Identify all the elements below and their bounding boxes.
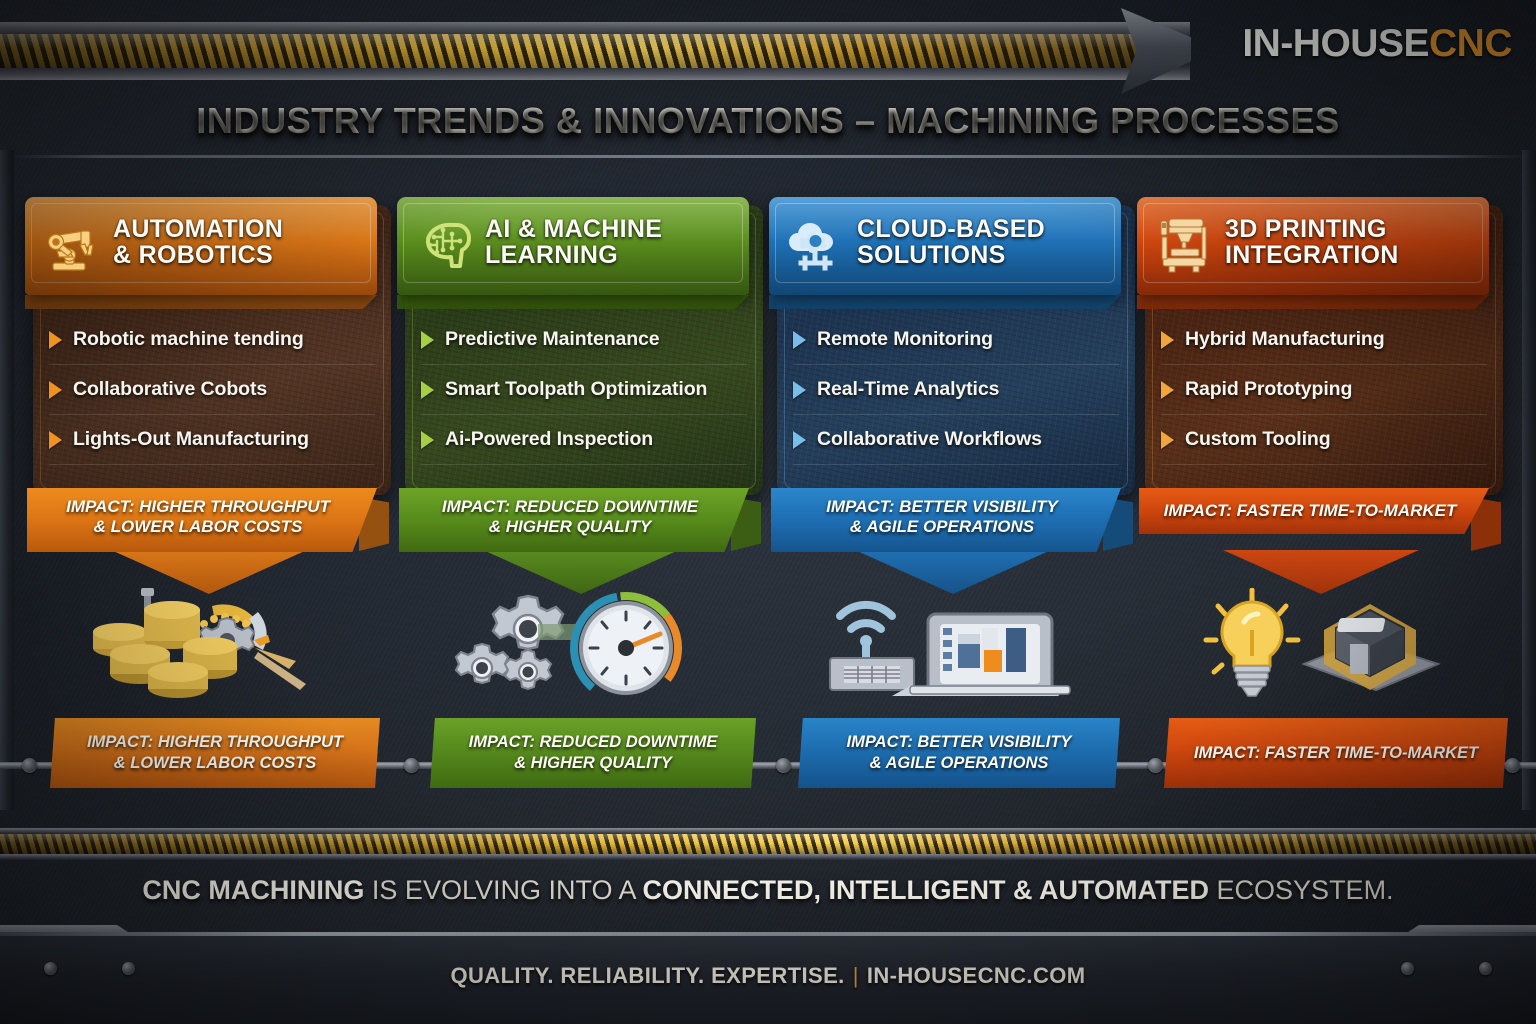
- list-item-label: Remote Monitoring: [817, 328, 993, 351]
- impact-line1: IMPACT: BETTER VISIBILITY: [826, 497, 1058, 516]
- column-3d-printing-integration: 3D PRINTING INTEGRATION Hybrid Manufactu…: [1145, 205, 1503, 565]
- card-title-line2: & ROBOTICS: [113, 241, 273, 269]
- coins-gear-screwdriver-icon: [62, 588, 362, 700]
- list-item-label: Smart Toolpath Optimization: [445, 378, 707, 401]
- card-title-line2: LEARNING: [485, 241, 618, 269]
- footer-rail-bottom: [0, 854, 1536, 860]
- list-item-label: Lights-Out Manufacturing: [73, 428, 309, 451]
- bullet-list: Hybrid Manufacturing Rapid Prototyping C…: [1161, 315, 1487, 465]
- column-cloud-based-solutions: CLOUD-BASED SOLUTIONS Remote Monitoring …: [777, 205, 1135, 565]
- bottom-banner-ai-machine-learning: IMPACT: REDUCED DOWNTIME & HIGHER QUALIT…: [430, 718, 756, 788]
- impact-line1: IMPACT: REDUCED DOWNTIME: [442, 497, 698, 516]
- card-title: CLOUD-BASED SOLUTIONS: [857, 217, 1045, 269]
- card-title-line1: CLOUD-BASED: [857, 215, 1045, 243]
- triangle-bullet-icon: [1161, 431, 1174, 449]
- triangle-bullet-icon: [49, 381, 62, 399]
- list-item[interactable]: Rapid Prototyping: [1161, 365, 1487, 415]
- bottom-banner-line1: IMPACT: FASTER TIME-TO-MARKET: [1194, 744, 1478, 762]
- card-title: AUTOMATION & ROBOTICS: [113, 217, 283, 269]
- columns-container: AUTOMATION & ROBOTICS Robotic machine te…: [0, 205, 1536, 565]
- bottom-banner-automation-robotics: IMPACT: HIGHER THROUGHPUT & LOWER LABOR …: [50, 718, 380, 788]
- wifi-laptop-server-icon: [806, 588, 1106, 700]
- footer-hazard-bar: [0, 828, 1536, 860]
- column-ai-machine-learning: AI & MACHINE LEARNING Predictive Mainten…: [405, 205, 763, 565]
- bottom-banner-line1: IMPACT: HIGHER THROUGHPUT: [87, 733, 343, 751]
- card-automation-robotics[interactable]: AUTOMATION & ROBOTICS Robotic machine te…: [33, 205, 391, 495]
- footer-separator: |: [845, 963, 867, 988]
- list-item[interactable]: Lights-Out Manufacturing: [49, 415, 375, 465]
- title-divider: [10, 155, 1526, 158]
- cloud-gear-icon: [783, 211, 847, 275]
- impact-ribbon-3d-printing-integration: IMPACT: FASTER TIME-TO-MARKET: [1139, 488, 1489, 534]
- list-item-label: Real-Time Analytics: [817, 378, 999, 401]
- header-hazard-bar: [0, 22, 1190, 80]
- impact-line2: & AGILE OPERATIONS: [850, 517, 1034, 536]
- impact-text: IMPACT: BETTER VISIBILITY & AGILE OPERAT…: [789, 497, 1095, 537]
- footer-website[interactable]: IN-HOUSECNC.COM: [867, 963, 1086, 988]
- illustration-row: [0, 590, 1536, 710]
- list-item-label: Ai-Powered Inspection: [445, 428, 653, 451]
- impact-line2: & HIGHER QUALITY: [489, 517, 651, 536]
- logo-accent-text: CNC: [1429, 22, 1512, 65]
- card-title: 3D PRINTING INTEGRATION: [1225, 217, 1399, 269]
- card-header-fold: [25, 295, 377, 309]
- tagline-brand: CNC MACHINING: [142, 875, 364, 905]
- card-title: AI & MACHINE LEARNING: [485, 217, 662, 269]
- illustration-lightbulb-3dcube: [1145, 590, 1503, 700]
- column-automation-robotics: AUTOMATION & ROBOTICS Robotic machine te…: [33, 205, 391, 565]
- triangle-bullet-icon: [49, 331, 62, 349]
- robot-arm-icon: [39, 211, 103, 275]
- triangle-bullet-icon: [1161, 381, 1174, 399]
- bullet-list: Robotic machine tending Collaborative Co…: [49, 315, 375, 465]
- list-item-label: Collaborative Cobots: [73, 378, 267, 401]
- list-item[interactable]: Remote Monitoring: [793, 315, 1119, 365]
- bottom-banner-text: IMPACT: REDUCED DOWNTIME & HIGHER QUALIT…: [469, 732, 718, 773]
- card-ai-machine-learning[interactable]: AI & MACHINE LEARNING Predictive Mainten…: [405, 205, 763, 495]
- list-item-label: Rapid Prototyping: [1185, 378, 1352, 401]
- illustration-coins-gear-screwdriver: [33, 590, 391, 700]
- list-item[interactable]: Custom Tooling: [1161, 415, 1487, 465]
- bottom-banner-text: IMPACT: FASTER TIME-TO-MARKET: [1194, 743, 1478, 764]
- lightbulb-3dcube-icon: [1174, 588, 1474, 700]
- impact-line2: & LOWER LABOR COSTS: [94, 517, 303, 536]
- impact-line1: IMPACT: FASTER TIME-TO-MARKET: [1164, 501, 1457, 520]
- card-title-line1: AI & MACHINE: [485, 215, 662, 243]
- illustration-wifi-laptop-server: [777, 590, 1135, 700]
- bottom-banner-line1: IMPACT: REDUCED DOWNTIME: [469, 733, 718, 751]
- card-header-automation-robotics: AUTOMATION & ROBOTICS: [25, 197, 377, 295]
- card-header-fold: [769, 295, 1121, 309]
- logo-primary-text: IN-HOUSE: [1242, 22, 1429, 65]
- footer-credits: QUALITY. RELIABILITY. EXPERTISE.|IN-HOUS…: [0, 963, 1536, 989]
- list-item[interactable]: Ai-Powered Inspection: [421, 415, 747, 465]
- impact-ribbon-cloud-based-solutions: IMPACT: BETTER VISIBILITY & AGILE OPERAT…: [771, 488, 1121, 552]
- card-title-line1: 3D PRINTING: [1225, 215, 1387, 243]
- card-title-line2: SOLUTIONS: [857, 241, 1006, 269]
- list-item-label: Hybrid Manufacturing: [1185, 328, 1385, 351]
- 3d-printer-icon: [1151, 211, 1215, 275]
- list-item[interactable]: Collaborative Workflows: [793, 415, 1119, 465]
- card-3d-printing-integration[interactable]: 3D PRINTING INTEGRATION Hybrid Manufactu…: [1145, 205, 1503, 495]
- tagline-post: ECOSYSTEM.: [1209, 875, 1394, 905]
- impact-text: IMPACT: FASTER TIME-TO-MARKET: [1164, 501, 1457, 521]
- card-header-ai-machine-learning: AI & MACHINE LEARNING: [397, 197, 749, 295]
- list-item[interactable]: Smart Toolpath Optimization: [421, 365, 747, 415]
- bottom-banner-cloud-based-solutions: IMPACT: BETTER VISIBILITY & AGILE OPERAT…: [798, 718, 1120, 788]
- triangle-bullet-icon: [1161, 331, 1174, 349]
- triangle-bullet-icon: [421, 431, 434, 449]
- impact-ribbon-automation-robotics: IMPACT: HIGHER THROUGHPUT & LOWER LABOR …: [27, 488, 377, 552]
- bottom-banner-line2: & LOWER LABOR COSTS: [114, 754, 317, 772]
- bullet-list: Predictive Maintenance Smart Toolpath Op…: [421, 315, 747, 465]
- list-item[interactable]: Predictive Maintenance: [421, 315, 747, 365]
- impact-ribbon-ai-machine-learning: IMPACT: REDUCED DOWNTIME & HIGHER QUALIT…: [399, 488, 749, 552]
- bottom-banner-line2: & HIGHER QUALITY: [514, 754, 672, 772]
- card-title-line2: INTEGRATION: [1225, 241, 1399, 269]
- list-item[interactable]: Hybrid Manufacturing: [1161, 315, 1487, 365]
- footer-left-text: QUALITY. RELIABILITY. EXPERTISE.: [451, 963, 845, 988]
- bottom-banner-line1: IMPACT: BETTER VISIBILITY: [847, 733, 1072, 751]
- triangle-bullet-icon: [421, 331, 434, 349]
- card-title-line1: AUTOMATION: [113, 215, 283, 243]
- bottom-banner-line2: & AGILE OPERATIONS: [870, 754, 1049, 772]
- triangle-bullet-icon: [793, 381, 806, 399]
- footer-hazard-stripes-icon: [0, 834, 1536, 854]
- list-item[interactable]: Collaborative Cobots: [49, 365, 375, 415]
- triangle-bullet-icon: [793, 331, 806, 349]
- brand-logo: IN-HOUSECNC: [1242, 24, 1512, 63]
- illustration-gears-gauge: [405, 590, 763, 700]
- bottom-banner-text: IMPACT: HIGHER THROUGHPUT & LOWER LABOR …: [87, 732, 343, 773]
- brain-circuit-icon: [411, 211, 475, 275]
- card-cloud-based-solutions[interactable]: CLOUD-BASED SOLUTIONS Remote Monitoring …: [777, 205, 1135, 495]
- bottom-banner-3d-printing-integration: IMPACT: FASTER TIME-TO-MARKET: [1164, 718, 1508, 788]
- list-item[interactable]: Robotic machine tending: [49, 315, 375, 365]
- triangle-bullet-icon: [793, 431, 806, 449]
- triangle-bullet-icon: [49, 431, 62, 449]
- impact-line1: IMPACT: HIGHER THROUGHPUT: [66, 497, 330, 516]
- list-item-label: Robotic machine tending: [73, 328, 304, 351]
- card-header-fold: [397, 295, 749, 309]
- card-header-cloud-based-solutions: CLOUD-BASED SOLUTIONS: [769, 197, 1121, 295]
- footer-tagline: CNC MACHINING IS EVOLVING INTO A CONNECT…: [0, 875, 1536, 906]
- impact-text: IMPACT: HIGHER THROUGHPUT & LOWER LABOR …: [45, 497, 351, 537]
- gears-gauge-icon: [434, 588, 734, 700]
- list-item[interactable]: Real-Time Analytics: [793, 365, 1119, 415]
- card-header-3d-printing-integration: 3D PRINTING INTEGRATION: [1137, 197, 1489, 295]
- list-item-label: Custom Tooling: [1185, 428, 1331, 451]
- page-title: INDUSTRY TRENDS & INNOVATIONS – MACHININ…: [0, 100, 1536, 142]
- bottom-banner-text: IMPACT: BETTER VISIBILITY & AGILE OPERAT…: [847, 732, 1072, 773]
- bullet-list: Remote Monitoring Real-Time Analytics Co…: [793, 315, 1119, 465]
- hazard-stripes-icon: [0, 34, 1160, 68]
- infographic-canvas: IN-HOUSECNC INDUSTRY TRENDS & INNOVATION…: [0, 0, 1536, 1024]
- bottom-impact-banners: IMPACT: HIGHER THROUGHPUT & LOWER LABOR …: [0, 718, 1536, 798]
- triangle-bullet-icon: [421, 381, 434, 399]
- list-item-label: Predictive Maintenance: [445, 328, 660, 351]
- card-header-fold: [1137, 295, 1489, 309]
- list-item-label: Collaborative Workflows: [817, 428, 1042, 451]
- tagline-emphasis: CONNECTED, INTELLIGENT & AUTOMATED: [643, 875, 1210, 905]
- tagline-mid: IS EVOLVING INTO A: [364, 875, 642, 905]
- impact-text: IMPACT: REDUCED DOWNTIME & HIGHER QUALIT…: [417, 497, 723, 537]
